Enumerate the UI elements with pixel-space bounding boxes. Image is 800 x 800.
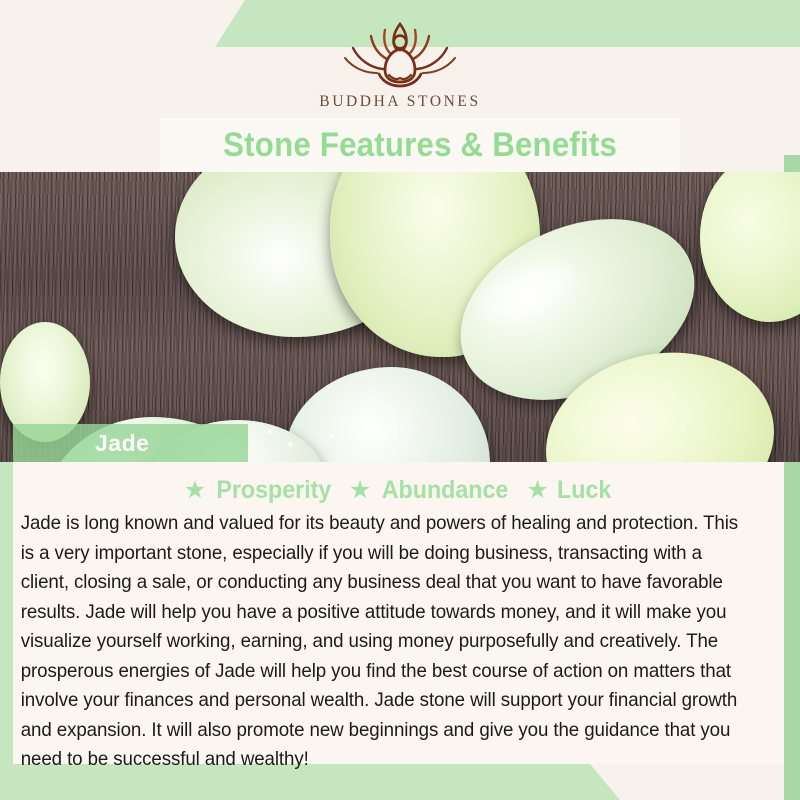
benefit-item: ★ Abundance xyxy=(349,476,514,505)
stone-photo xyxy=(0,172,800,462)
stone-name-badge: Jade xyxy=(13,424,248,462)
title-band: Stone Features & Benefits xyxy=(160,118,680,172)
brand-wordmark: BUDDHA STONES xyxy=(319,93,480,111)
star-icon: ★ xyxy=(184,478,206,503)
description-text: Jade is long known and valued for its be… xyxy=(13,507,757,775)
benefit-label: Abundance xyxy=(382,476,509,505)
benefit-label: Luck xyxy=(557,476,611,505)
star-icon: ★ xyxy=(526,478,548,503)
star-icon: ★ xyxy=(349,478,371,503)
poster-root: BUDDHA STONES Stone Features & Benefits … xyxy=(0,0,800,800)
sparkle-icon xyxy=(289,443,292,446)
lotus-meditation-icon xyxy=(335,18,465,90)
sparkle-icon xyxy=(330,434,333,437)
benefit-label: Prosperity xyxy=(217,476,332,505)
benefit-item: ★ Prosperity xyxy=(184,476,336,505)
brand-logo: BUDDHA STONES xyxy=(0,18,800,118)
sparkle-icon xyxy=(268,430,271,433)
content-panel: ★ Prosperity ★ Abundance ★ Luck Jade is … xyxy=(13,462,784,764)
benefit-item: ★ Luck xyxy=(526,476,613,505)
benefits-row: ★ Prosperity ★ Abundance ★ Luck xyxy=(13,462,784,507)
stone-name-label: Jade xyxy=(95,430,149,457)
page-title: Stone Features & Benefits xyxy=(223,126,617,165)
